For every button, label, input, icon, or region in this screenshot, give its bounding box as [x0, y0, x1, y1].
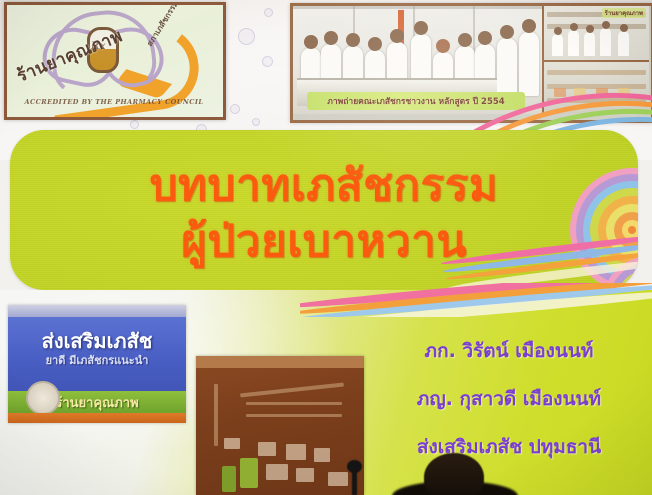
pharmacy-shelf-photo-top: ร้านยาคุณภาพ: [544, 6, 649, 62]
decorative-bubble: [238, 28, 255, 45]
storefront-sign-photo: ส่งเสริมเภสัช ยาดี มีเภสัชกรแนะนำ ร้านยา…: [8, 305, 186, 423]
decorative-bubble: [264, 8, 273, 17]
pharmacists-group-photo: ภาพถ่ายคณะเภสัชกรชาวงาน หลักสูตร ปี 2554: [293, 6, 544, 114]
decorative-bubble: [262, 56, 273, 67]
pharmacy-shelf-photo-bottom: [544, 62, 649, 114]
header-photo-block: ภาพถ่ายคณะเภสัชกรชาวงาน หลักสูตร ปี 2554…: [290, 3, 652, 123]
presentation-slide: Rx ร้านยาคุณภาพ สภาเภสัชกรรม ACCREDITED …: [0, 0, 652, 495]
title-line-2: ผู้ป่วยเบาหวาน: [10, 206, 638, 276]
author-credits: ภก. วิรัตน์ เมืองนนท์ ภญ. กุสาวดี เมืองน…: [370, 336, 648, 480]
side-photo-caption: ร้านยาคุณภาพ: [602, 8, 646, 18]
sign-sub-text: ยาดี มีเภสัชกรแนะนำ: [8, 351, 186, 369]
sign-orange-stripe: [8, 413, 186, 423]
credit-line-2: ภญ. กุสาวดี เมืองนนท์: [370, 384, 648, 414]
decorative-bubble: [252, 118, 260, 126]
credit-line-3: ส่งเสริมเภสัช ปทุมธานี: [370, 432, 648, 462]
decorative-bubble: [130, 120, 139, 129]
microphone-icon: [347, 460, 362, 473]
credit-line-1: ภก. วิรัตน์ เมืองนนท์: [370, 336, 648, 366]
slide-title-box: บทบาทเภสัชกรรม ผู้ป่วยเบาหวาน: [10, 130, 638, 290]
audience-silhouette-head: [424, 453, 484, 495]
photo-caption: ภาพถ่ายคณะเภสัชกรชาวงาน หลักสูตร ปี 2554: [307, 92, 525, 110]
pharmacy-interior-photo: [196, 356, 364, 495]
quality-pharmacy-logo-plate: Rx ร้านยาคุณภาพ สภาเภสัชกรรม ACCREDITED …: [4, 2, 226, 120]
logo-accredited-text: ACCREDITED BY THE PHARMACY COUNCIL: [17, 98, 211, 106]
decorative-bubble: [230, 104, 240, 114]
quality-seal-icon: [26, 381, 60, 415]
